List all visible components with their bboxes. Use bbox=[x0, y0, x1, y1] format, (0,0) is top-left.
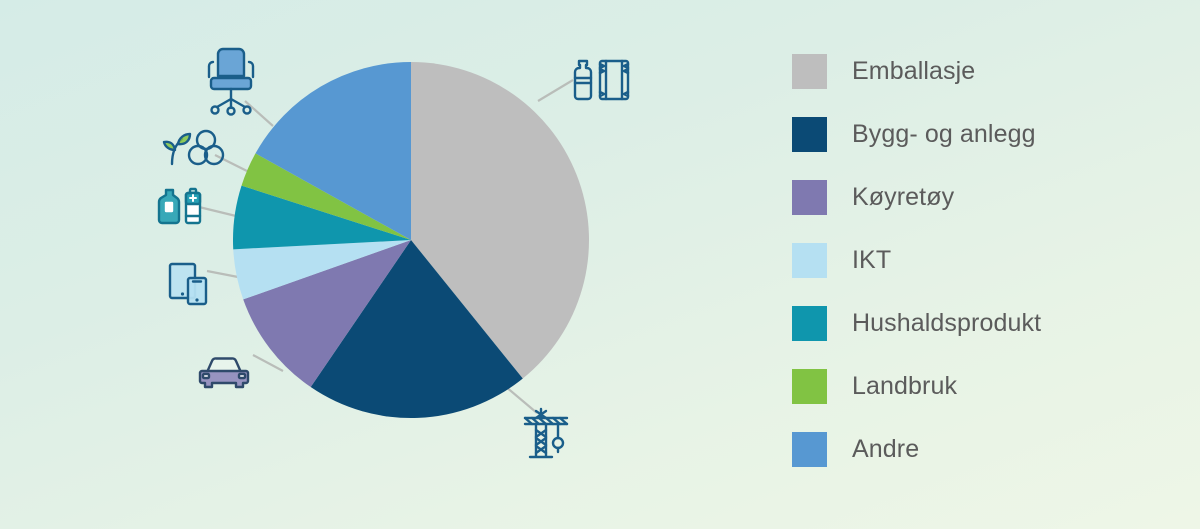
legend-item-andre[interactable]: Andre bbox=[792, 418, 1172, 481]
pie-chart-svg bbox=[0, 0, 760, 529]
detergent-and-battery-icon bbox=[159, 189, 200, 223]
chart-area bbox=[0, 0, 760, 529]
leader-line-bygg-og-anlegg bbox=[505, 386, 537, 413]
legend-item-label: Emballasje bbox=[852, 57, 975, 86]
legend-item-hushaldsprodukt[interactable]: Hushaldsprodukt bbox=[792, 292, 1172, 355]
leader-line-emballasje bbox=[538, 80, 573, 101]
legend-item-k-yret-y[interactable]: Køyretøy bbox=[792, 166, 1172, 229]
legend-swatch-ikt bbox=[792, 243, 827, 278]
crane-icon bbox=[525, 409, 567, 457]
legend-swatch-koyretoy bbox=[792, 180, 827, 215]
pie-slices bbox=[233, 62, 589, 418]
legend-item-label: Køyretøy bbox=[852, 183, 954, 212]
legend-item-bygg-og-anlegg[interactable]: Bygg- og anlegg bbox=[792, 103, 1172, 166]
legend-item-label: Bygg- og anlegg bbox=[852, 120, 1036, 149]
legend-item-emballasje[interactable]: Emballasje bbox=[792, 40, 1172, 103]
legend-swatch-emballasje bbox=[792, 54, 827, 89]
leader-line-hushaldsprodukt bbox=[199, 207, 236, 216]
tablet-and-phone-icon bbox=[170, 264, 206, 304]
legend-swatch-landbruk bbox=[792, 369, 827, 404]
legend-item-label: IKT bbox=[852, 246, 891, 275]
bottle-and-pouch-icon bbox=[575, 61, 628, 99]
legend-item-label: Landbruk bbox=[852, 372, 957, 401]
legend-item-label: Andre bbox=[852, 435, 919, 464]
leader-line-ikt bbox=[207, 271, 238, 277]
legend-swatch-hushaldsprodukt bbox=[792, 306, 827, 341]
legend-swatch-bygg-og-anlegg bbox=[792, 117, 827, 152]
office-chair-icon bbox=[209, 49, 253, 115]
pie-chart-infographic: EmballasjeBygg- og anleggKøyretøyIKTHush… bbox=[0, 0, 1200, 529]
chart-legend: EmballasjeBygg- og anleggKøyretøyIKTHush… bbox=[792, 40, 1172, 481]
car-icon bbox=[200, 358, 248, 387]
legend-item-landbruk[interactable]: Landbruk bbox=[792, 355, 1172, 418]
seedling-and-fertilizer-icon bbox=[164, 131, 223, 164]
legend-swatch-andre bbox=[792, 432, 827, 467]
legend-item-ikt[interactable]: IKT bbox=[792, 229, 1172, 292]
legend-item-label: Hushaldsprodukt bbox=[852, 309, 1041, 338]
